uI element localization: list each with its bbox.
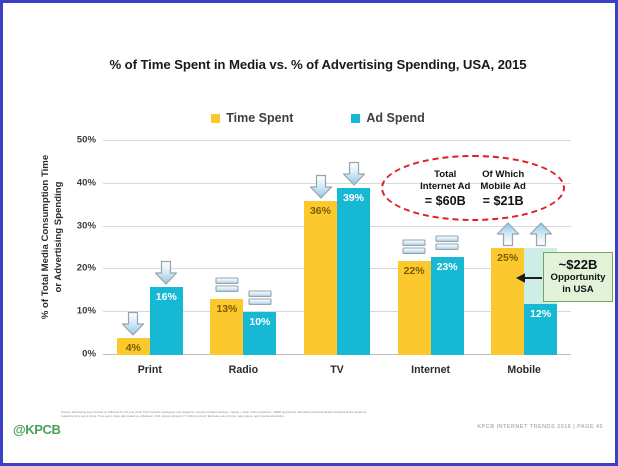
bar-group-tv: 36%39%TV: [290, 141, 384, 355]
legend-swatch-time-spent: [211, 114, 220, 123]
x-axis-label-tv: TV: [290, 364, 384, 376]
bar-value-label: 10%: [243, 316, 276, 328]
legend-label-time-spent: Time Spent: [226, 111, 293, 125]
bar-tv-ad-spend[interactable]: 39%: [337, 188, 370, 355]
arrow-up-icon: [495, 221, 521, 247]
callout-total-value: = $60B: [420, 195, 470, 207]
bar-value-label: 12%: [524, 308, 557, 320]
opportunity-line2: in USA: [546, 284, 610, 296]
y-axis-tick-label: 20%: [77, 263, 96, 274]
opportunity-arrow-icon: [515, 271, 543, 285]
bar-value-label: 23%: [431, 261, 464, 273]
callout-column-total-internet: Total Internet Ad = $60B: [420, 169, 470, 207]
bar-value-label: 4%: [117, 342, 150, 354]
bar-radio-time-spent[interactable]: 13%: [210, 299, 243, 355]
legend-item-time-spent: Time Spent: [211, 111, 293, 125]
bar-pair: 13%10%: [197, 141, 291, 355]
equals-marker-icon: [434, 229, 460, 255]
callout-total-line2: Internet Ad: [420, 181, 470, 193]
x-axis-label-print: Print: [103, 364, 197, 376]
arrow-down-icon: [153, 260, 179, 286]
slide-frame: % of Time Spent in Media vs. % of Advert…: [0, 0, 618, 466]
y-axis-title-text: % of Total Media Consumption Timeor Adve…: [39, 155, 65, 319]
y-axis-title: % of Total Media Consumption Timeor Adve…: [37, 137, 67, 337]
callout-total-line1: Total: [420, 169, 470, 181]
bar-group-print: 4%16%Print: [103, 141, 197, 355]
y-axis-tick-label: 10%: [77, 306, 96, 317]
y-axis-tick-label: 40%: [77, 177, 96, 188]
bar-tv-time-spent[interactable]: 36%: [304, 201, 337, 355]
y-axis-tick-label: 0%: [82, 349, 96, 360]
bar-group-radio: 13%10%Radio: [197, 141, 291, 355]
callout-column-mobile-ad: Of Which Mobile Ad = $21B: [480, 169, 525, 207]
bar-value-label: 25%: [491, 252, 524, 264]
bar-pair: 36%39%: [290, 141, 384, 355]
bar-internet-time-spent[interactable]: 22%: [398, 261, 431, 355]
chart-title: % of Time Spent in Media vs. % of Advert…: [63, 57, 573, 72]
x-axis-label-internet: Internet: [384, 364, 478, 376]
callout-mobile-value: = $21B: [480, 195, 525, 207]
legend-item-ad-spend: Ad Spend: [351, 111, 424, 125]
mobile-opportunity-callout: ~$22B Opportunity in USA: [543, 252, 613, 302]
equals-marker-icon: [401, 233, 427, 259]
source-note: Source: Advertising spend based on IAB d…: [61, 410, 371, 418]
equals-marker-icon: [214, 271, 240, 297]
arrow-down-icon: [341, 161, 367, 187]
equals-marker-icon: [247, 284, 273, 310]
bar-value-label: 22%: [398, 265, 431, 277]
slide-canvas: % of Time Spent in Media vs. % of Advert…: [3, 3, 615, 463]
bar-mobile-time-spent[interactable]: 25%: [491, 248, 524, 355]
callout-mobile-line1: Of Which: [480, 169, 525, 181]
x-axis-label-radio: Radio: [197, 364, 291, 376]
callout-columns: Total Internet Ad = $60B Of Which Mobile…: [381, 155, 565, 221]
bar-print-time-spent[interactable]: 4%: [117, 338, 150, 355]
internet-ad-callout: Total Internet Ad = $60B Of Which Mobile…: [381, 155, 565, 221]
footer-page-info: KPCB INTERNET TRENDS 2016 | PAGE 45: [477, 424, 603, 430]
arrow-down-icon: [120, 311, 146, 337]
bar-value-label: 16%: [150, 291, 183, 303]
arrow-down-icon: [308, 174, 334, 200]
legend-swatch-ad-spend: [351, 114, 360, 123]
opportunity-line1: Opportunity: [546, 272, 610, 284]
bar-radio-ad-spend[interactable]: 10%: [243, 312, 276, 355]
bar-print-ad-spend[interactable]: 16%: [150, 287, 183, 355]
arrow-up-icon: [528, 221, 554, 247]
y-axis-tick-label: 50%: [77, 135, 96, 146]
bar-internet-ad-spend[interactable]: 23%: [431, 257, 464, 355]
bar-value-label: 39%: [337, 192, 370, 204]
opportunity-amount: ~$22B: [546, 257, 610, 272]
bar-value-label: 36%: [304, 205, 337, 217]
callout-mobile-line2: Mobile Ad: [480, 181, 525, 193]
chart-legend: Time Spent Ad Spend: [63, 111, 573, 125]
bar-mobile-ad-spend[interactable]: 12%: [524, 304, 557, 355]
kpcb-logo: @KPCB: [13, 422, 61, 437]
legend-label-ad-spend: Ad Spend: [366, 111, 424, 125]
bar-value-label: 13%: [210, 303, 243, 315]
bar-pair: 4%16%: [103, 141, 197, 355]
y-axis-tick-label: 30%: [77, 220, 96, 231]
x-axis-label-mobile: Mobile: [477, 364, 571, 376]
